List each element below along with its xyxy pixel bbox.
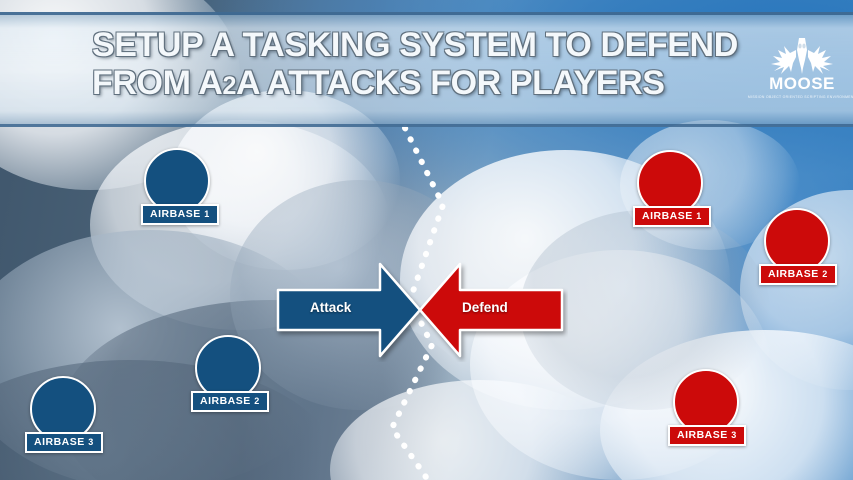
airbase-node-red-3[interactable]: AIRBASE 3 bbox=[673, 369, 739, 435]
attack-arrow-label: Attack bbox=[310, 300, 351, 315]
airbase-label-number: 1 bbox=[696, 211, 702, 221]
moose-logo[interactable]: MOOSE MISSION OBJECT ORIENTED SCRIPTING … bbox=[763, 16, 841, 108]
airbase-node-blue-3[interactable]: AIRBASE 3 bbox=[30, 376, 96, 442]
airbase-node-red-1[interactable]: AIRBASE 1 bbox=[637, 150, 703, 216]
airbase-label-text: AIRBASE bbox=[150, 208, 201, 220]
moose-logo-tagline: MISSION OBJECT ORIENTED SCRIPTING ENVIRO… bbox=[748, 95, 853, 99]
title-line-2-a: FROM A bbox=[92, 64, 222, 102]
airbase-label-text: AIRBASE bbox=[677, 429, 728, 441]
title-line-1: SETUP A TASKING SYSTEM TO DEFEND bbox=[92, 26, 732, 64]
airbase-label-text: AIRBASE bbox=[34, 436, 85, 448]
title-line-2-b: A ATTACKS FOR PLAYERS bbox=[236, 64, 665, 102]
moose-logo-name: MOOSE bbox=[769, 74, 835, 94]
airbase-label: AIRBASE 1 bbox=[633, 206, 711, 227]
airbase-label: AIRBASE 1 bbox=[141, 204, 219, 225]
airbase-label: AIRBASE 3 bbox=[25, 432, 103, 453]
airbase-label-text: AIRBASE bbox=[768, 268, 819, 280]
airbase-label: AIRBASE 3 bbox=[668, 425, 746, 446]
slide-canvas: AIRBASE 1 AIRBASE 2 AIRBASE 3 AIRBASE 1 … bbox=[0, 0, 853, 480]
airbase-label-text: AIRBASE bbox=[642, 210, 693, 222]
moose-antlers-icon bbox=[766, 16, 838, 76]
airbase-label: AIRBASE 2 bbox=[759, 264, 837, 285]
airbase-label: AIRBASE 2 bbox=[191, 391, 269, 412]
airbase-label-text: AIRBASE bbox=[200, 395, 251, 407]
attack-defend-arrows: Attack Defend bbox=[272, 258, 568, 362]
airbase-label-number: 1 bbox=[204, 209, 210, 219]
title-line-2-subscript: 2 bbox=[222, 72, 236, 100]
title-line-2: FROM A2A ATTACKS FOR PLAYERS bbox=[92, 64, 732, 102]
defend-arrow-label: Defend bbox=[462, 300, 508, 315]
airbase-label-number: 2 bbox=[822, 269, 828, 279]
airbase-node-red-2[interactable]: AIRBASE 2 bbox=[764, 208, 830, 274]
airbase-label-number: 2 bbox=[254, 396, 260, 406]
airbase-label-number: 3 bbox=[88, 437, 94, 447]
airbase-node-blue-2[interactable]: AIRBASE 2 bbox=[195, 335, 261, 401]
page-title: SETUP A TASKING SYSTEM TO DEFEND FROM A2… bbox=[92, 26, 732, 103]
airbase-node-blue-1[interactable]: AIRBASE 1 bbox=[144, 148, 210, 214]
airbase-label-number: 3 bbox=[731, 430, 737, 440]
